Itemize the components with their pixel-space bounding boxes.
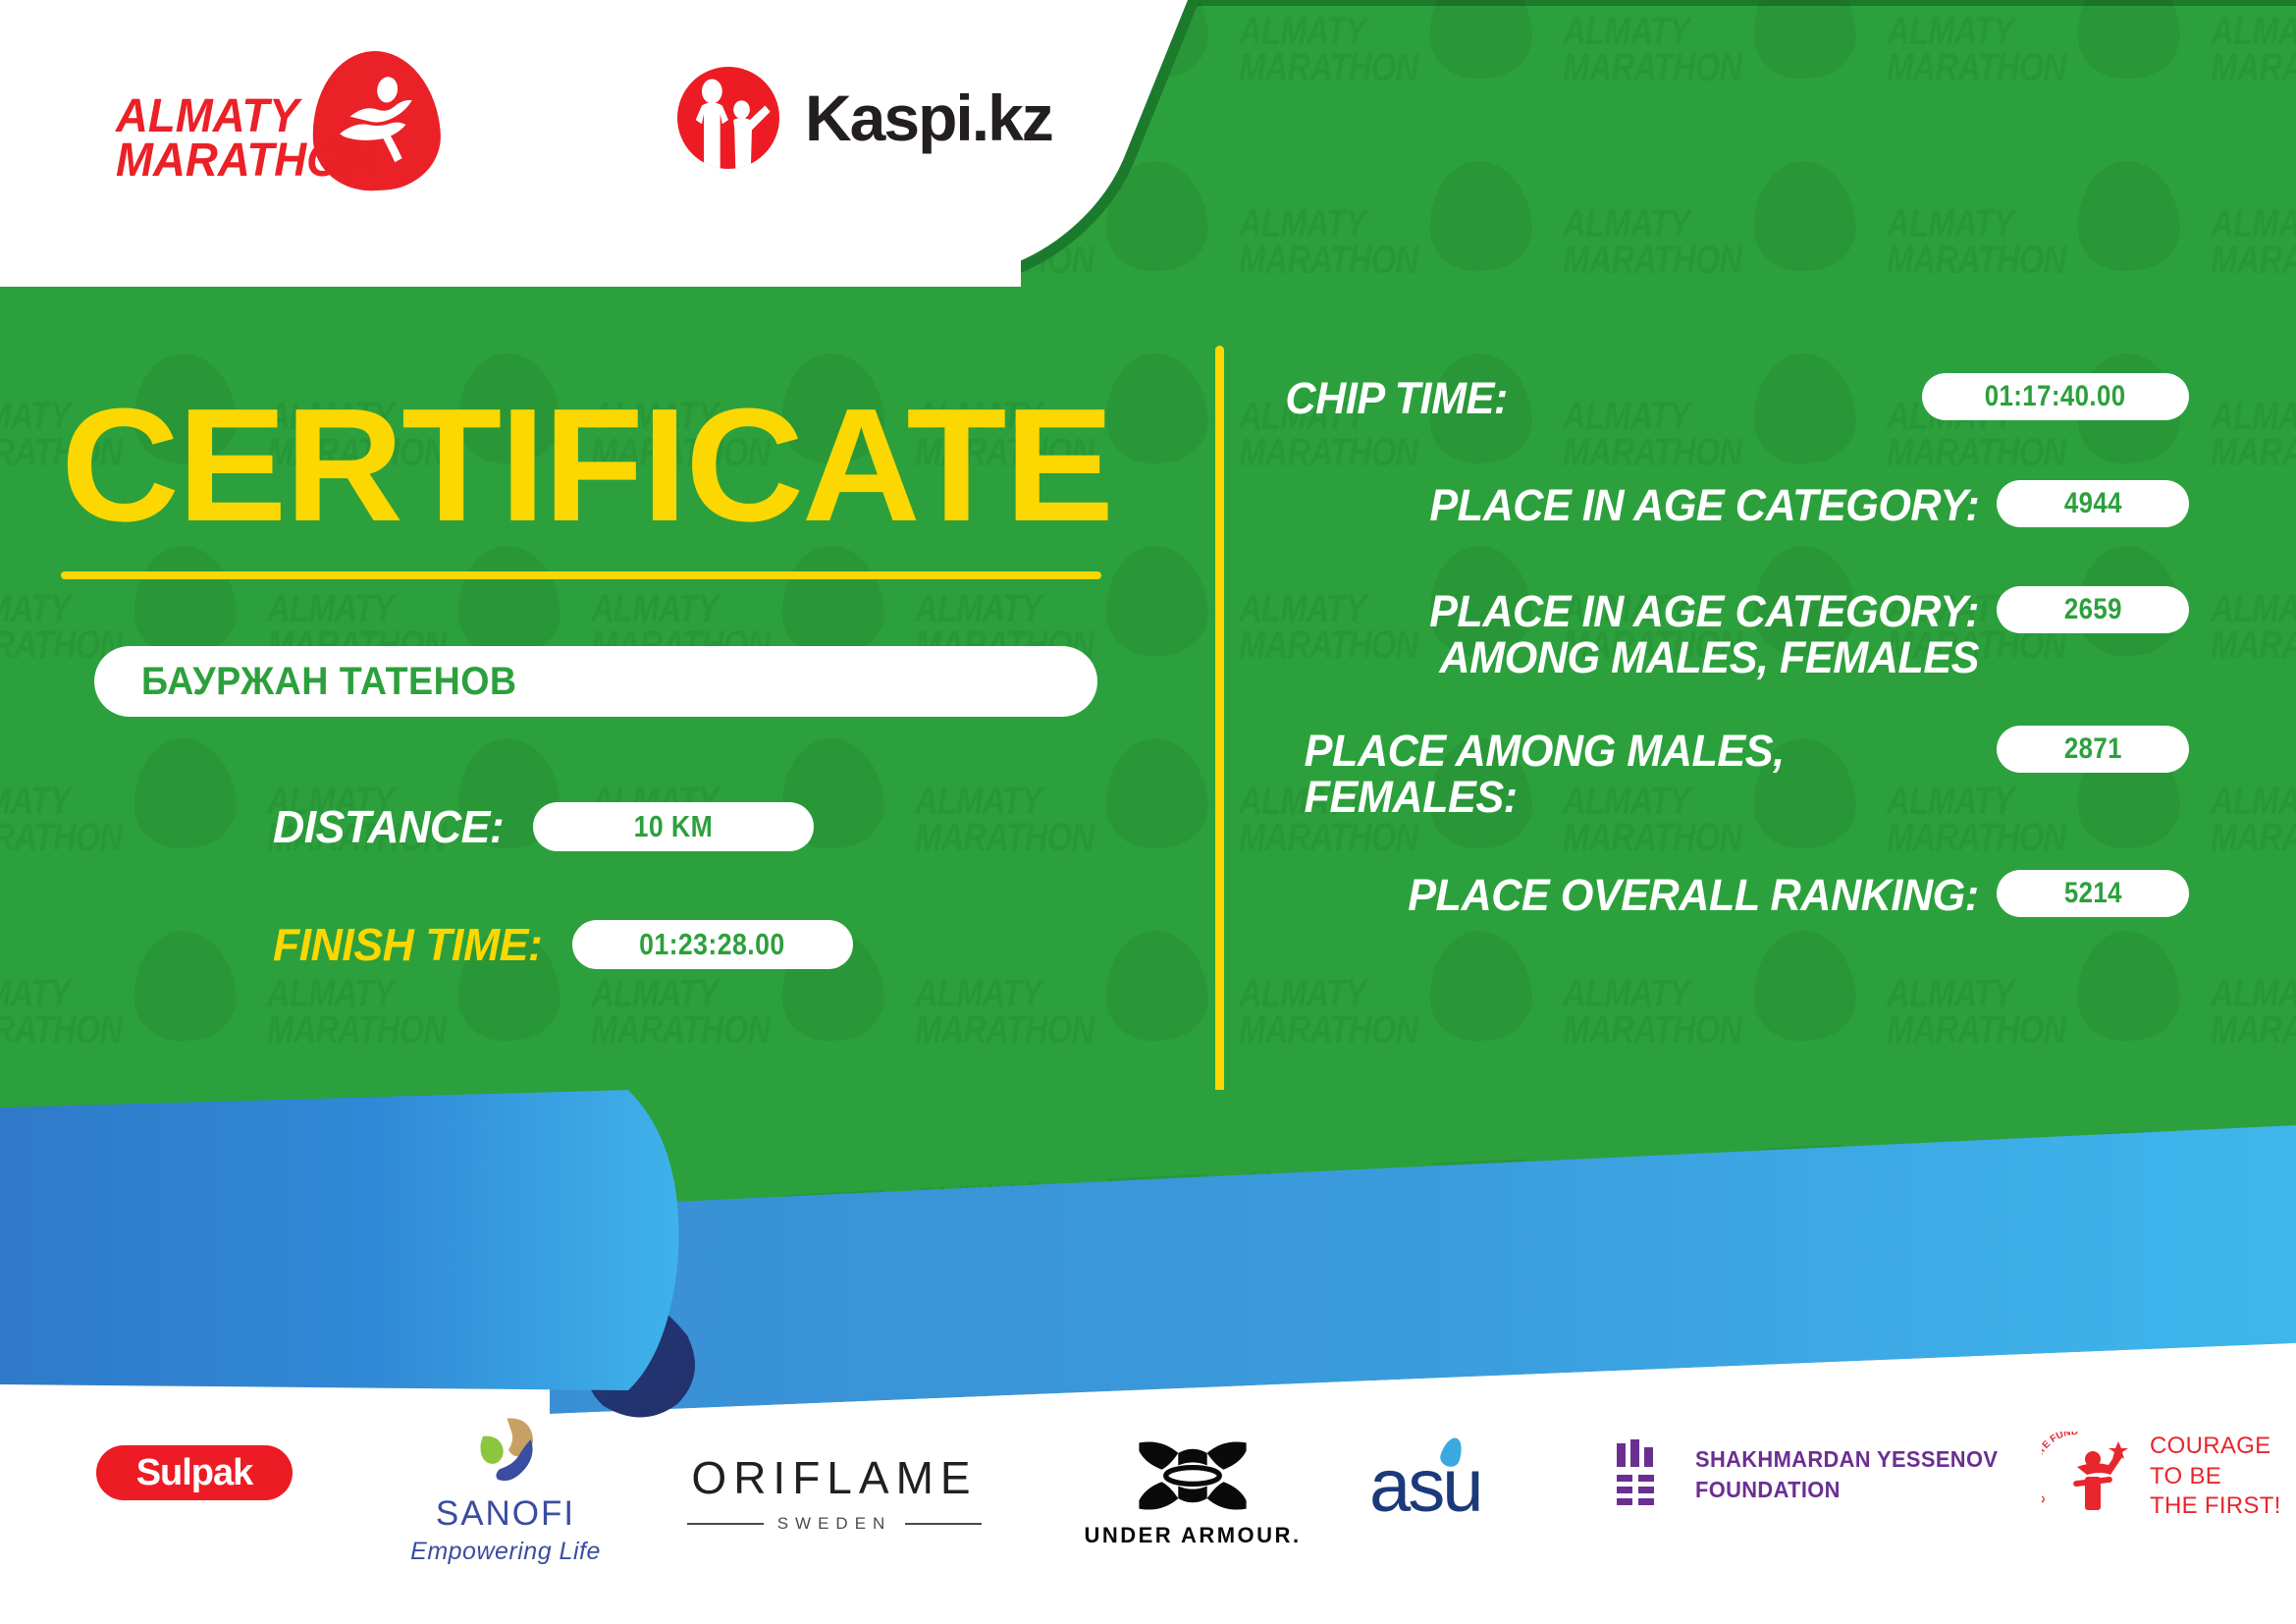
title-underline bbox=[61, 571, 1101, 579]
watermark-text: ALMATYMARATHON bbox=[1239, 976, 1417, 1049]
watermark-text: ALMATYMARATHON bbox=[1239, 14, 1417, 86]
watermark-text: ALMATYMARATHON bbox=[2211, 206, 2296, 279]
column-divider bbox=[1215, 346, 1224, 1097]
watermark-text: ALMATYMARATHON bbox=[1239, 1168, 1417, 1241]
courage-label: COURAGE TO BE THE FIRST! bbox=[2150, 1432, 2281, 1522]
watermark-tile: ALMATYMARATHON bbox=[2209, 346, 2296, 537]
finish-time-row: FINISH TIME: 01:23:28.00 bbox=[273, 918, 853, 971]
header-logos: ALMATY MARATHON Kaspi.kz bbox=[0, 0, 1178, 280]
watermark-text: ALMATYMARATHON bbox=[1563, 14, 1741, 86]
place-among-gender-label: PLACE AMONG MALES, FEMALES: bbox=[1305, 726, 1979, 821]
place-age-category-label: PLACE IN AGE CATEGORY: bbox=[1429, 480, 1979, 528]
watermark-drop-icon bbox=[454, 543, 563, 660]
label-line-2: FEMALES: bbox=[1305, 774, 1979, 820]
label-line-1: PLACE IN AGE CATEGORY: bbox=[1305, 588, 1979, 634]
watermark-tile: ALMATYMARATHON bbox=[589, 1115, 913, 1306]
watermark-text: ALMATYMARATHON bbox=[1239, 206, 1417, 279]
watermark-tile: ALMATYMARATHON bbox=[2209, 538, 2296, 730]
yessenov-mark-icon bbox=[1615, 1439, 1672, 1510]
watermark-drop-icon bbox=[1425, 1120, 1535, 1237]
watermark-text: ALMATYMARATHON bbox=[1563, 976, 1741, 1049]
watermark-text: ALMATYMARATHON bbox=[591, 976, 770, 1049]
watermark-drop-icon bbox=[1101, 735, 1211, 852]
label-line-1: PLACE AMONG MALES, bbox=[1305, 728, 1979, 774]
watermark-drop-icon bbox=[777, 1120, 887, 1237]
watermark-tile: ALMATYMARATHON bbox=[0, 923, 265, 1114]
kaspi-logo: Kaspi.kz bbox=[677, 67, 1052, 169]
watermark-drop-icon bbox=[1749, 158, 1859, 275]
watermark-tile: ALMATYMARATHON bbox=[1561, 0, 1885, 152]
watermark-tile: ALMATYMARATHON bbox=[1237, 0, 1561, 152]
under-armour-mark-icon bbox=[1131, 1438, 1255, 1513]
sponsor-yessenov-foundation: SHAKHMARDAN YESSENOV FOUNDATION bbox=[1615, 1439, 2014, 1510]
distance-row: DISTANCE: 10 KM bbox=[273, 800, 814, 853]
watermark-drop-icon bbox=[2073, 0, 2183, 81]
watermark-text: ALMATYMARATHON bbox=[1887, 1168, 2065, 1241]
chip-time-value: 01:17:40.00 bbox=[1985, 380, 2126, 413]
watermark-text: ALMATYMARATHON bbox=[1887, 206, 2065, 279]
place-age-category-gender-label: PLACE IN AGE CATEGORY: AMONG MALES, FEMA… bbox=[1305, 586, 1979, 681]
watermark-tile: ALMATYMARATHON bbox=[1885, 1115, 2209, 1306]
place-overall-row: PLACE OVERALL RANKING: 5214 bbox=[1276, 870, 2189, 918]
finish-time-label: FINISH TIME: bbox=[273, 918, 542, 971]
courage-fund-mark-icon: CORPORATE FUND bbox=[2042, 1432, 2136, 1522]
sulpak-label: Sulpak bbox=[136, 1452, 253, 1494]
watermark-tile: ALMATYMARATHON bbox=[1237, 153, 1561, 345]
watermark-text: ALMATYMARATHON bbox=[2211, 591, 2296, 664]
watermark-drop-icon bbox=[1101, 351, 1211, 467]
watermark-text: ALMATYMARATHON bbox=[0, 976, 122, 1049]
distance-value-pill: 10 KM bbox=[533, 802, 814, 851]
watermark-tile: ALMATYMARATHON bbox=[1885, 923, 2209, 1114]
watermark-tile: ALMATYMARATHON bbox=[913, 923, 1237, 1114]
watermark-tile: ALMATYMARATHON bbox=[2209, 731, 2296, 922]
yessenov-label-line-2: FOUNDATION bbox=[1695, 1475, 1998, 1505]
place-age-category-value-pill: 4944 bbox=[1997, 480, 2189, 527]
watermark-text: ALMATYMARATHON bbox=[267, 976, 446, 1049]
oriflame-rule-left bbox=[687, 1523, 764, 1525]
watermark-text: ALMATYMARATHON bbox=[2211, 976, 2296, 1049]
almaty-word: ALMATY bbox=[116, 94, 374, 138]
sanofi-mark-icon bbox=[468, 1414, 543, 1489]
watermark-drop-icon bbox=[130, 543, 240, 660]
watermark-text: ALMATYMARATHON bbox=[0, 591, 122, 664]
courage-label-line-3: THE FIRST! bbox=[2150, 1491, 2281, 1522]
watermark-drop-icon bbox=[2073, 158, 2183, 275]
place-among-gender-row: PLACE AMONG MALES, FEMALES: 2871 bbox=[1276, 726, 2189, 821]
place-age-category-row: PLACE IN AGE CATEGORY: 4944 bbox=[1276, 480, 2189, 528]
watermark-drop-icon bbox=[1425, 928, 1535, 1045]
place-age-category-gender-value: 2659 bbox=[2063, 593, 2121, 626]
place-overall-value-pill: 5214 bbox=[1997, 870, 2189, 917]
yessenov-label: SHAKHMARDAN YESSENOV FOUNDATION bbox=[1695, 1444, 1998, 1505]
oriflame-rule-right bbox=[905, 1523, 982, 1525]
watermark-tile: ALMATYMARATHON bbox=[1237, 1115, 1561, 1306]
watermark-drop-icon bbox=[2073, 928, 2183, 1045]
sponsor-oriflame: ORIFLAME SWEDEN bbox=[687, 1451, 982, 1534]
watermark-text: ALMATYMARATHON bbox=[591, 1168, 770, 1241]
watermark-drop-icon bbox=[1101, 543, 1211, 660]
watermark-tile: ALMATYMARATHON bbox=[0, 731, 265, 922]
watermark-drop-icon bbox=[454, 1120, 563, 1237]
watermark-tile: ALMATYMARATHON bbox=[2209, 0, 2296, 152]
watermark-text: ALMATYMARATHON bbox=[267, 1168, 446, 1241]
watermark-drop-icon bbox=[1425, 158, 1535, 275]
distance-label: DISTANCE: bbox=[273, 800, 504, 853]
watermark-tile: ALMATYMARATHON bbox=[2209, 923, 2296, 1114]
place-age-category-gender-value-pill: 2659 bbox=[1997, 586, 2189, 633]
place-age-category-value: 4944 bbox=[2063, 487, 2121, 520]
watermark-text: ALMATYMARATHON bbox=[915, 784, 1094, 856]
sulpak-logo: Sulpak bbox=[96, 1445, 293, 1500]
chip-time-value-pill: 01:17:40.00 bbox=[1922, 373, 2189, 420]
place-overall-value: 5214 bbox=[2063, 877, 2121, 910]
watermark-tile: ALMATYMARATHON bbox=[265, 1115, 589, 1306]
kaspi-family-circle-icon bbox=[677, 67, 779, 169]
watermark-tile: ALMATYMARATHON bbox=[1885, 153, 2209, 345]
chip-time-label: CHIP TIME: bbox=[1285, 373, 1507, 421]
sponsor-asu: asu bbox=[1369, 1443, 1481, 1529]
finish-time-value-pill: 01:23:28.00 bbox=[572, 920, 853, 969]
label-line-2: AMONG MALES, FEMALES bbox=[1305, 634, 1979, 680]
watermark-drop-icon bbox=[1749, 1120, 1859, 1237]
watermark-drop-icon bbox=[1101, 928, 1211, 1045]
courage-label-line-2: TO BE bbox=[2150, 1462, 2281, 1492]
place-among-gender-value: 2871 bbox=[2063, 732, 2121, 766]
place-age-category-gender-row: PLACE IN AGE CATEGORY: AMONG MALES, FEMA… bbox=[1276, 586, 2189, 681]
participant-name: БАУРЖАН ТАТЕНОВ bbox=[141, 660, 517, 704]
courage-arc-label: CORPORATE FUND bbox=[2042, 1432, 2078, 1505]
watermark-tile: ALMATYMARATHON bbox=[2209, 153, 2296, 345]
marathon-word: MARATHON bbox=[116, 138, 374, 183]
oriflame-label: ORIFLAME bbox=[691, 1451, 977, 1504]
kaspi-family-figures-icon bbox=[677, 67, 779, 169]
yessenov-label-line-1: SHAKHMARDAN YESSENOV bbox=[1695, 1444, 1998, 1475]
watermark-text: ALMATYMARATHON bbox=[915, 1168, 1094, 1241]
sponsor-courage-fund: CORPORATE FUND COURAGE TO BE THE FIRST! bbox=[2042, 1432, 2281, 1522]
watermark-tile: ALMATYMARATHON bbox=[1885, 0, 2209, 152]
watermark-text: ALMATYMARATHON bbox=[0, 784, 122, 856]
watermark-drop-icon bbox=[1425, 0, 1535, 81]
watermark-drop-icon bbox=[130, 735, 240, 852]
participant-name-field: БАУРЖАН ТАТЕНОВ bbox=[94, 646, 1097, 717]
watermark-drop-icon bbox=[1101, 1120, 1211, 1237]
watermark-drop-icon bbox=[130, 928, 240, 1045]
finish-time-value: 01:23:28.00 bbox=[640, 927, 786, 962]
watermark-text: ALMATYMARATHON bbox=[1563, 206, 1741, 279]
watermark-text: ALMATYMARATHON bbox=[1563, 1168, 1741, 1241]
watermark-tile: ALMATYMARATHON bbox=[1561, 923, 1885, 1114]
watermark-tile: ALMATYMARATHON bbox=[0, 1115, 265, 1306]
chip-time-row: CHIP TIME: 01:17:40.00 bbox=[1276, 373, 2189, 421]
page-title: CERTIFICATE bbox=[61, 385, 1112, 546]
watermark-text: ALMATYMARATHON bbox=[2211, 784, 2296, 856]
almaty-marathon-logo: ALMATY MARATHON bbox=[116, 51, 430, 189]
sanofi-tagline: Empowering Life bbox=[410, 1538, 601, 1566]
place-overall-label: PLACE OVERALL RANKING: bbox=[1409, 870, 1979, 918]
watermark-tile: ALMATYMARATHON bbox=[913, 1115, 1237, 1306]
watermark-drop-icon bbox=[2073, 1120, 2183, 1237]
watermark-drop-icon bbox=[1749, 0, 1859, 81]
sanofi-label: SANOFI bbox=[436, 1494, 575, 1534]
watermark-tile: ALMATYMARATHON bbox=[1237, 923, 1561, 1114]
watermark-text: ALMATYMARATHON bbox=[1887, 976, 2065, 1049]
almaty-marathon-wordmark: ALMATY MARATHON bbox=[116, 94, 374, 183]
svg-text:CORPORATE FUND: CORPORATE FUND bbox=[2042, 1432, 2078, 1505]
distance-value: 10 KM bbox=[633, 809, 713, 844]
under-armour-label: UNDER ARMOUR. bbox=[1084, 1523, 1301, 1548]
results-stats: CHIP TIME: 01:17:40.00 PLACE IN AGE CATE… bbox=[1276, 373, 2189, 918]
watermark-text: ALMATYMARATHON bbox=[1887, 14, 2065, 86]
asu-logo: asu bbox=[1369, 1443, 1481, 1529]
watermark-tile: ALMATYMARATHON bbox=[2209, 1115, 2296, 1306]
watermark-text: ALMATYMARATHON bbox=[0, 1168, 122, 1241]
place-among-gender-value-pill: 2871 bbox=[1997, 726, 2189, 773]
sponsor-sanofi: SANOFI Empowering Life bbox=[393, 1414, 618, 1566]
sponsor-sulpak: Sulpak bbox=[96, 1445, 293, 1500]
watermark-text: ALMATYMARATHON bbox=[2211, 399, 2296, 471]
watermark-drop-icon bbox=[777, 543, 887, 660]
watermark-drop-icon bbox=[130, 1120, 240, 1237]
watermark-text: ALMATYMARATHON bbox=[2211, 1168, 2296, 1241]
certificate-page: ALMATYMARATHONALMATYMARATHONALMATYMARATH… bbox=[0, 0, 2296, 1624]
sponsor-under-armour: UNDER ARMOUR. bbox=[1080, 1438, 1306, 1548]
watermark-tile: ALMATYMARATHON bbox=[1561, 153, 1885, 345]
asu-label: asu bbox=[1369, 1444, 1481, 1528]
watermark-drop-icon bbox=[1749, 928, 1859, 1045]
oriflame-sweden-row: SWEDEN bbox=[687, 1514, 982, 1534]
watermark-tile: ALMATYMARATHON bbox=[913, 731, 1237, 922]
watermark-text: ALMATYMARATHON bbox=[915, 976, 1094, 1049]
watermark-tile: ALMATYMARATHON bbox=[1561, 1115, 1885, 1306]
courage-label-line-1: COURAGE bbox=[2150, 1432, 2281, 1462]
watermark-text: ALMATYMARATHON bbox=[2211, 14, 2296, 86]
kaspi-wordmark: Kaspi.kz bbox=[805, 81, 1052, 155]
oriflame-tagline: SWEDEN bbox=[777, 1514, 892, 1534]
